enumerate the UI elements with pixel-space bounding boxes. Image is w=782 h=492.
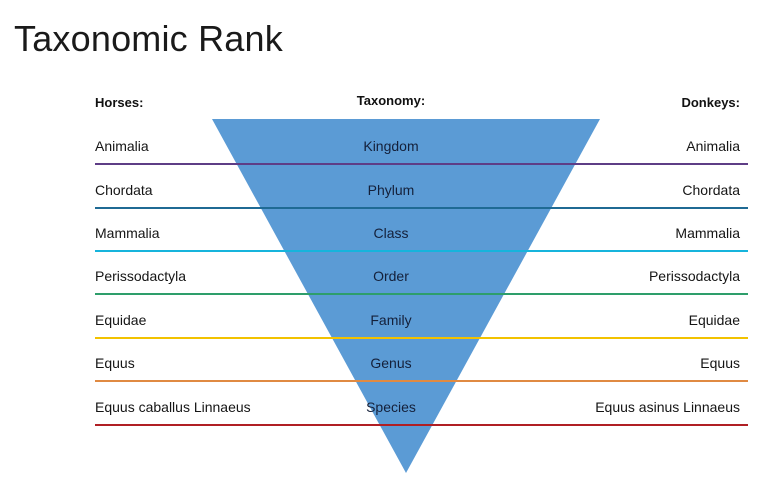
rank-row: EquidaeFamilyEquidae xyxy=(0,312,782,356)
rank-row: PerissodactylaOrderPerissodactyla xyxy=(0,268,782,312)
rank-divider-line xyxy=(95,250,748,252)
rank-name: Class xyxy=(0,225,782,241)
donkey-name: Perissodactyla xyxy=(649,268,740,284)
rank-row: MammaliaClassMammalia xyxy=(0,225,782,269)
slide-canvas: Taxonomic Rank Horses: Taxonomy: Donkeys… xyxy=(0,0,782,492)
rank-row: AnimaliaKingdomAnimalia xyxy=(0,138,782,182)
rank-divider-line xyxy=(95,207,748,209)
rank-name: Kingdom xyxy=(0,138,782,154)
donkey-name: Equidae xyxy=(689,312,740,328)
rank-name: Phylum xyxy=(0,182,782,198)
rank-row: ChordataPhylumChordata xyxy=(0,182,782,226)
donkey-name: Animalia xyxy=(686,138,740,154)
rank-divider-line xyxy=(95,380,748,382)
rank-name: Family xyxy=(0,312,782,328)
donkey-name: Mammalia xyxy=(675,225,740,241)
rank-name: Genus xyxy=(0,355,782,371)
rank-divider-line xyxy=(95,424,748,426)
rank-row: Equus caballus LinnaeusSpeciesEquus asin… xyxy=(0,399,782,443)
rank-divider-line xyxy=(95,163,748,165)
donkey-name: Equus asinus Linnaeus xyxy=(595,399,740,415)
rank-row: EquusGenusEquus xyxy=(0,355,782,399)
donkey-name: Chordata xyxy=(682,182,740,198)
rank-divider-line xyxy=(95,293,748,295)
rank-row-list: AnimaliaKingdomAnimaliaChordataPhylumCho… xyxy=(0,0,782,492)
donkey-name: Equus xyxy=(700,355,740,371)
rank-divider-line xyxy=(95,337,748,339)
